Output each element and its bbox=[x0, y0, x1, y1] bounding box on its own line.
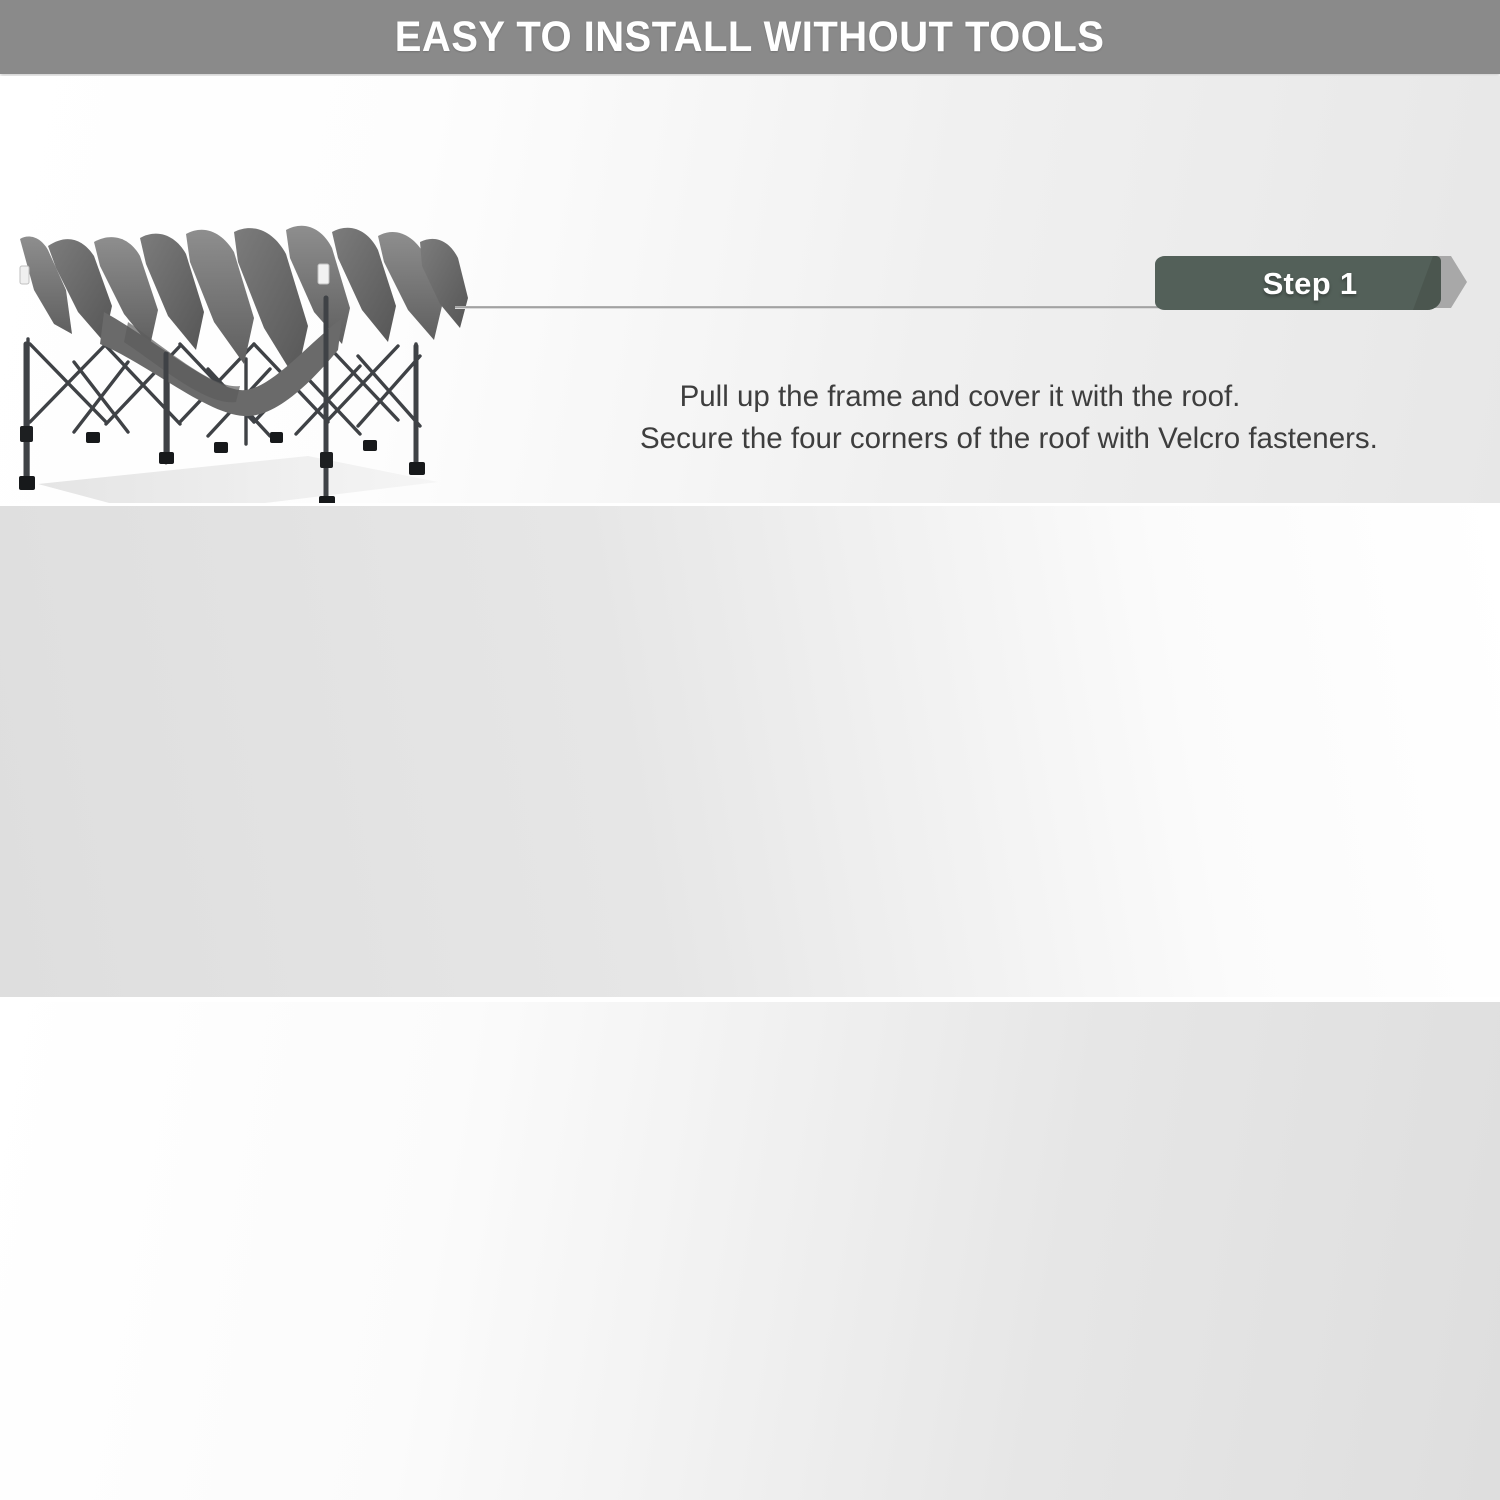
step-1-section: Step 1 Pull up the frame and cover it wi… bbox=[0, 76, 1500, 503]
step-1-description: Pull up the frame and cover it with the … bbox=[640, 376, 1280, 460]
step-2-section: Step 2 Pull up the frame bbox=[0, 506, 1500, 997]
step-1-connector-line bbox=[455, 306, 1165, 309]
step-3-section: Step 3 Push it up until the frame is com… bbox=[0, 1002, 1500, 1500]
page-title: EASY TO INSTALL WITHOUT TOOLS bbox=[395, 13, 1105, 62]
step-1-badge-label: Step 1 bbox=[1151, 252, 1469, 318]
step-1-description-line-1: Pull up the frame and cover it with the … bbox=[640, 376, 1280, 418]
step-1-badge: Step 1 bbox=[1151, 252, 1469, 318]
step-1-description-line-2: Secure the four corners of the roof with… bbox=[640, 418, 1280, 460]
step-1-illustration bbox=[8, 194, 478, 503]
infographic-page: EASY TO INSTALL WITHOUT TOOLS bbox=[0, 0, 1500, 1500]
page-header: EASY TO INSTALL WITHOUT TOOLS bbox=[0, 0, 1500, 74]
